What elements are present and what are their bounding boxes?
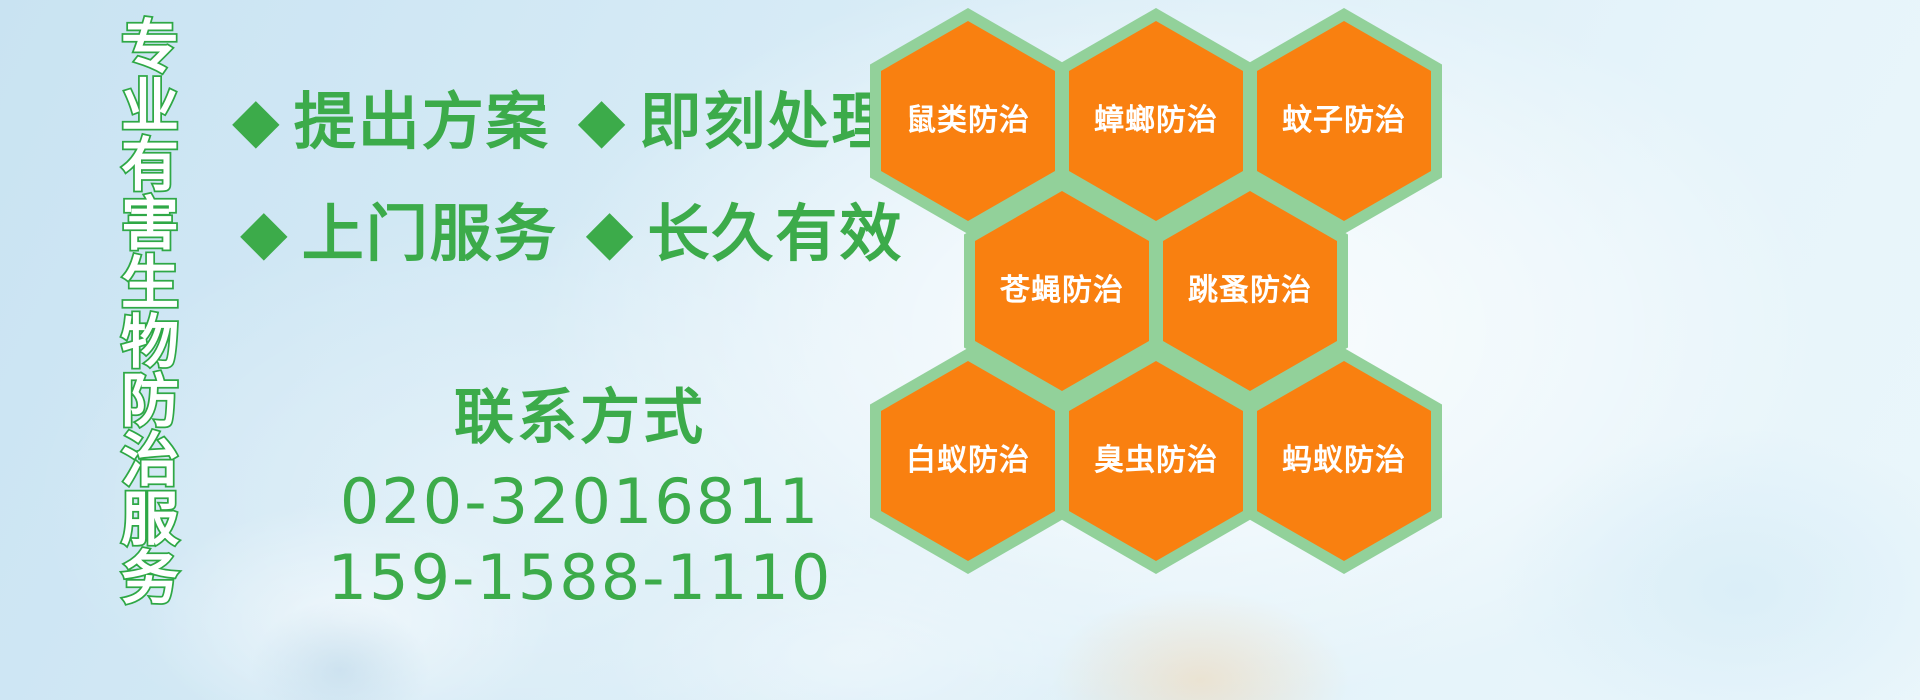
hex-label-ant: 蚂蚁防治	[1282, 443, 1406, 479]
vertical-slogan-char: 务	[121, 549, 179, 607]
vertical-slogan: 专 业 有 害 生 物 防 治 服 务	[108, 18, 192, 558]
hex-label-bedbug: 臭虫防治	[1094, 443, 1218, 479]
vertical-slogan-char: 业	[121, 77, 179, 135]
hex-label-cockroach: 蟑螂防治	[1094, 103, 1218, 139]
phone-number-mobile[interactable]: 159-1588-1110	[300, 540, 860, 616]
hex-cell-bedbug[interactable]: 臭虫防治	[1058, 348, 1254, 574]
background-haze	[1500, 430, 1920, 700]
phone-number-landline[interactable]: 020-32016811	[300, 464, 860, 540]
feature-line-1: ◆ 提出方案 ◆ 即刻处理	[232, 84, 895, 160]
hex-label-flea: 跳蚤防治	[1188, 273, 1312, 309]
feature-label-propose-plan: 提出方案	[294, 84, 550, 160]
contact-block: 联系方式 020-32016811 159-1588-1110	[300, 382, 860, 615]
vertical-slogan-char: 物	[121, 313, 179, 371]
vertical-slogan-char: 服	[121, 490, 179, 548]
pest-control-banner: 专 业 有 害 生 物 防 治 服 务 ◆ 提出方案 ◆ 即刻处理 ◆ 上门服务…	[0, 0, 1920, 700]
hex-label-termite: 白蚁防治	[906, 443, 1030, 479]
hex-label-mosquito: 蚊子防治	[1282, 103, 1406, 139]
service-honeycomb: 鼠类防治 蟑螂防治 蚊子防治 苍蝇防治 跳蚤防治	[862, 0, 1462, 560]
vertical-slogan-char: 专	[121, 18, 179, 76]
vertical-slogan-char: 有	[121, 136, 179, 194]
feature-label-immediate-handling: 即刻处理	[639, 84, 895, 160]
hex-cell-ant[interactable]: 蚂蚁防治	[1246, 348, 1442, 574]
diamond-bullet-icon: ◆	[232, 89, 280, 151]
hex-cell-termite[interactable]: 白蚁防治	[870, 348, 1066, 574]
vertical-slogan-char: 生	[121, 254, 179, 312]
hex-label-fly: 苍蝇防治	[1000, 273, 1124, 309]
diamond-bullet-icon: ◆	[578, 89, 626, 151]
diamond-bullet-icon: ◆	[240, 201, 288, 263]
diamond-bullet-icon: ◆	[586, 201, 634, 263]
vertical-slogan-char: 害	[121, 195, 179, 253]
contact-heading: 联系方式	[300, 382, 860, 454]
feature-label-onsite-service: 上门服务	[302, 196, 558, 272]
feature-line-2: ◆ 上门服务 ◆ 长久有效	[240, 196, 903, 272]
vertical-slogan-char: 防	[121, 372, 179, 430]
vertical-slogan-char: 治	[121, 431, 179, 489]
background-haze	[1050, 590, 1350, 700]
hex-label-rodent: 鼠类防治	[906, 103, 1030, 139]
